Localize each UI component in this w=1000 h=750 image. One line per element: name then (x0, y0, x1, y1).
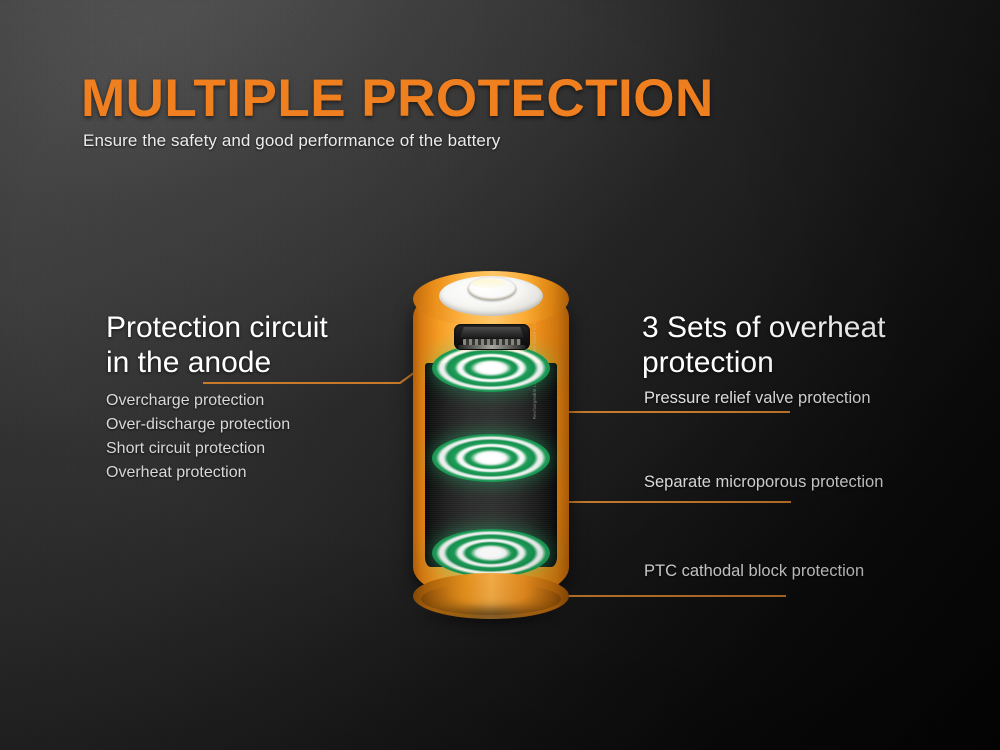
micro-usb-port-icon (454, 324, 530, 350)
right-callout-item-pressure-valve: Pressure relief valve protection (644, 389, 871, 408)
list-item: Overcharge protection (106, 389, 290, 413)
left-callout-heading: Protection circuit in the anode (106, 310, 328, 380)
usb-port-highlight (458, 345, 526, 349)
battery-terminal-highlight (471, 279, 505, 288)
overheat-indicator-1 (432, 344, 550, 392)
usb-connector-shape (460, 327, 524, 338)
right-callout-item-ptc-block: PTC cathodal block protection (644, 562, 864, 581)
page-title: MULTIPLE PROTECTION (81, 72, 714, 125)
battery-drop-shadow (417, 603, 565, 629)
slide-canvas: MULTIPLE PROTECTION Ensure the safety an… (0, 0, 1000, 750)
right-callout-heading: 3 Sets of overheat protection (642, 310, 886, 380)
battery-illustration: Fenix Rechargeable Li-ion Battery 3.6V M… (411, 271, 571, 603)
right-callout-item-microporous: Separate microporous protection (644, 473, 883, 492)
list-item: Overheat protection (106, 461, 290, 485)
list-item: Short circuit protection (106, 437, 290, 461)
list-item: Over-discharge protection (106, 413, 290, 437)
overheat-indicator-2 (432, 434, 550, 482)
overheat-indicator-3 (432, 529, 550, 577)
left-callout-list: Overcharge protection Over-discharge pro… (106, 389, 290, 486)
page-subtitle: Ensure the safety and good performance o… (83, 131, 500, 151)
